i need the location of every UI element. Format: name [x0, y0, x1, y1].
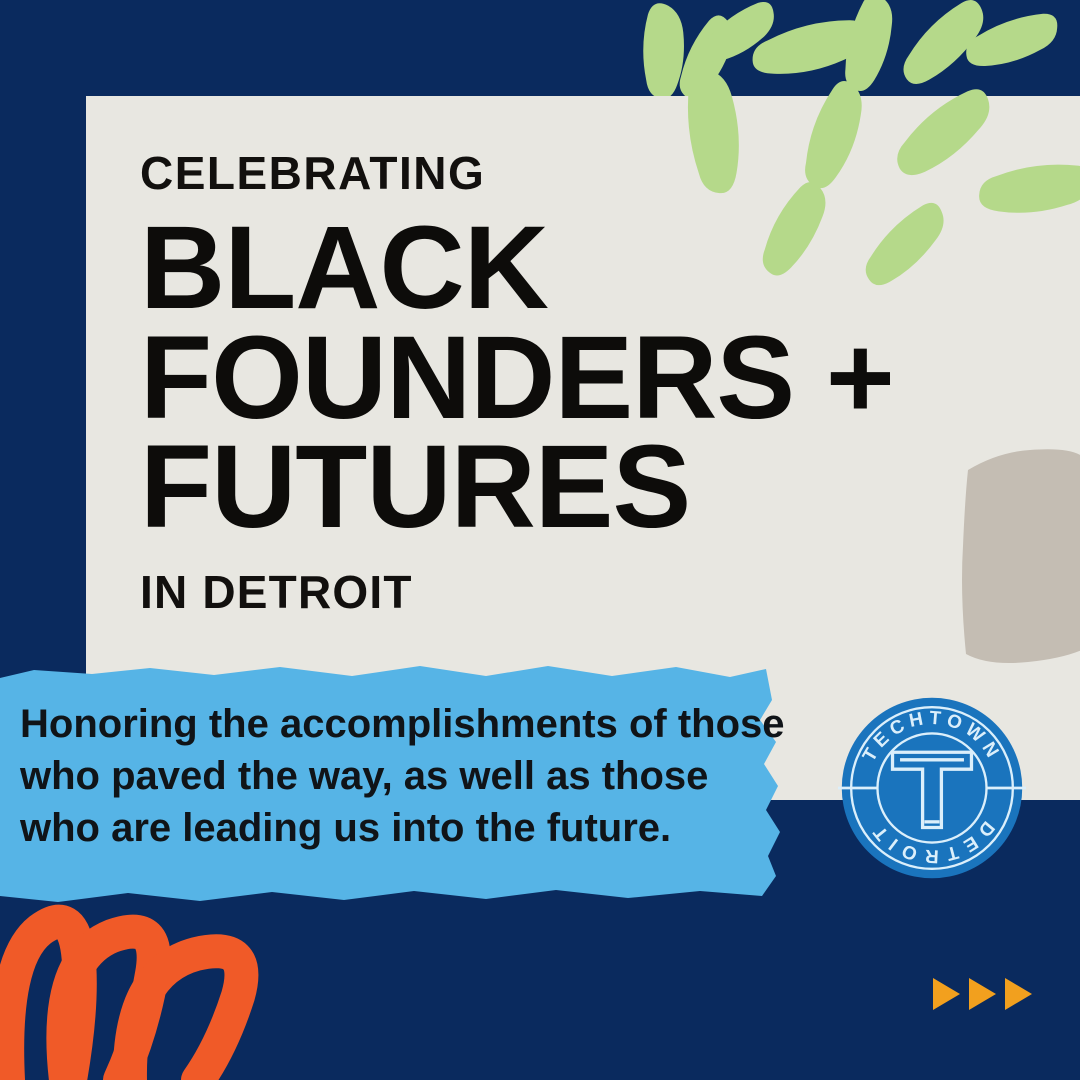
triangle-arrow-icon-3 — [1005, 978, 1032, 1010]
triangle-arrow-icon-2 — [969, 978, 996, 1010]
arrows-layer — [0, 0, 1080, 1080]
triangle-arrow-icon-1 — [933, 978, 960, 1010]
poster-canvas: CELEBRATING BLACK FOUNDERS + FUTURES IN … — [0, 0, 1080, 1080]
arrow-indicator-group — [933, 978, 1032, 1010]
